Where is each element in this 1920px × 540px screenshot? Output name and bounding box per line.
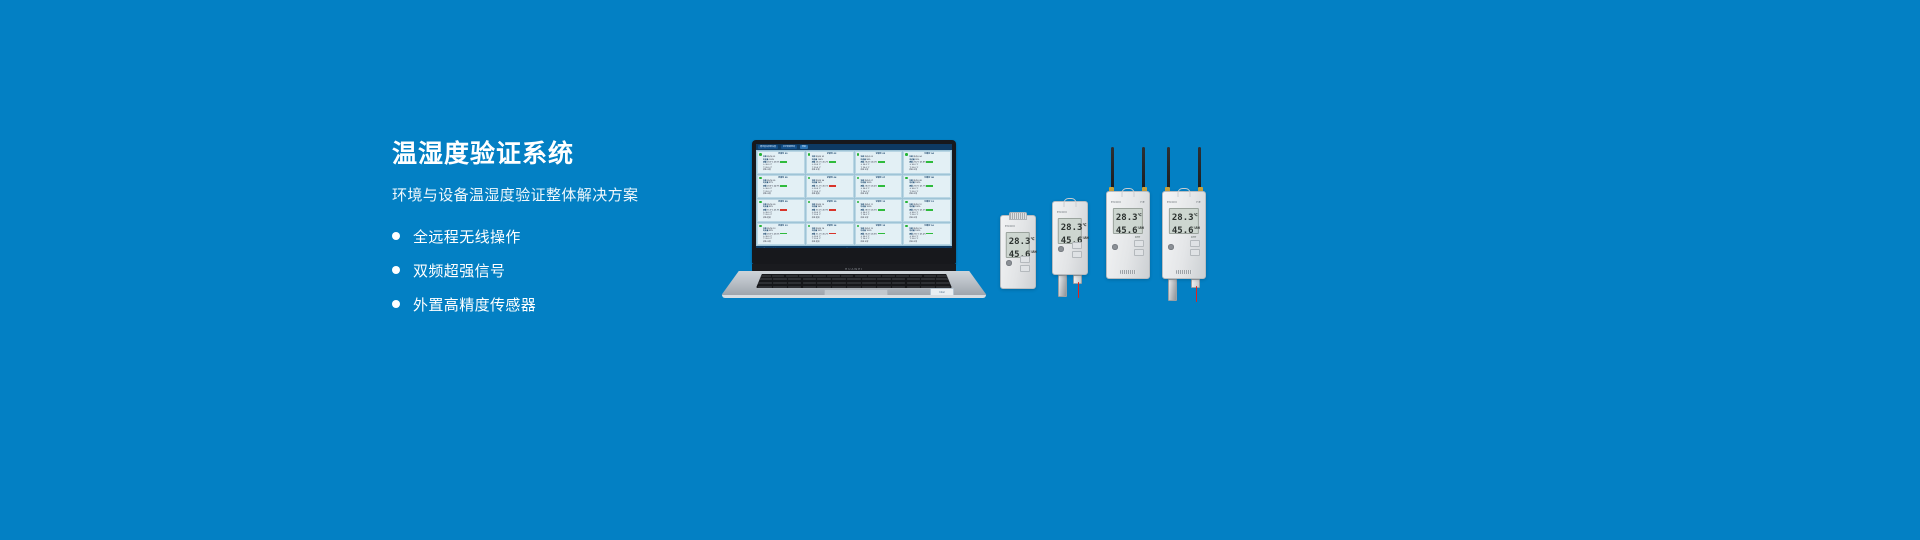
keyboard-key <box>758 286 772 288</box>
keyboard-key <box>907 278 921 280</box>
status-bar-icon <box>878 185 885 187</box>
keyboard-key <box>896 275 909 277</box>
laptop-brand-logo: HUAWEI <box>845 267 863 271</box>
keyboard-key <box>910 275 923 277</box>
device-lineup: ENON28.3℃45.6%RHRHTENON28.3℃45.6%RHRHTEN… <box>1000 185 1230 315</box>
keyboard-key <box>817 278 831 280</box>
device-model-label: HE <box>1196 200 1201 204</box>
feature-label: 外置高精度传感器 <box>413 294 536 315</box>
status-led-icon <box>759 177 762 180</box>
laptop-illustration: 通讯基站参数设置 历史数据查询 帮助 记录仪 01名称 测试点 01电池量 10… <box>720 140 988 300</box>
logger-state-row: 状态 正常 <box>861 193 901 196</box>
bullet-dot-icon <box>392 266 400 274</box>
keyboard-key <box>847 286 861 288</box>
device-keypad <box>1134 240 1144 256</box>
keyboard-key <box>817 286 831 288</box>
status-bar-icon <box>780 233 787 235</box>
logger-card[interactable]: 记录仪 02名称 测试点 02电池量 100%测量 28.1℃ 45.2% 上 … <box>806 151 854 174</box>
logger-state-row: 状态 超限 <box>812 241 852 244</box>
down-button[interactable] <box>1020 265 1030 272</box>
logger-state-row: 状态 正常 <box>909 169 949 172</box>
data-logger-device: ENON28.3℃45.6%RHRHT <box>1052 201 1088 275</box>
device-keypad <box>1020 256 1030 272</box>
keyboard-key <box>803 278 817 280</box>
power-button[interactable] <box>1058 246 1064 252</box>
up-button[interactable] <box>1190 240 1200 247</box>
lcd-display: 28.3℃45.6%RHRHT <box>1169 208 1199 234</box>
lcd-display: 28.3℃45.6%RHRHT <box>1006 232 1030 258</box>
status-led-icon <box>808 225 811 228</box>
keyboard-key <box>892 282 906 284</box>
temperature-probe-icon <box>1058 275 1067 297</box>
antenna-icon <box>1198 147 1201 189</box>
status-bar-icon <box>829 185 836 187</box>
keyboard-key <box>788 282 802 284</box>
keyboard-key <box>803 286 817 288</box>
speaker-grill-icon <box>1176 270 1192 274</box>
keyboard-key <box>921 278 935 280</box>
logger-card[interactable]: 记录仪 03名称 测试点 03电池量 98%测量 28.4℃ 46.0% 上 3… <box>855 151 903 174</box>
keyboard-key <box>832 286 846 288</box>
data-logger-device: ENON28.3℃45.6%RHRHT <box>1000 215 1036 289</box>
logger-state-row: 状态 正常 <box>812 169 852 172</box>
keyboard-key <box>788 278 802 280</box>
vent-grill-icon <box>1009 212 1027 220</box>
hanging-hook-icon <box>1178 188 1191 197</box>
humidity-reading: 45.6%RH <box>1116 223 1140 236</box>
logger-state-row: 状态 正常 <box>909 217 949 220</box>
keyboard-key <box>772 275 785 277</box>
logger-state-row: 状态 超限 <box>812 193 852 196</box>
logger-card-grid: 记录仪 01名称 测试点 01电池量 100%测量 28.3℃ 45.6% 上 … <box>756 150 952 246</box>
device-brand-label: ENON <box>1111 200 1121 204</box>
hero-banner: 温湿度验证系统 环境与设备温湿度验证整体解决方案 全远程无线操作 双频超强信号 … <box>0 0 1920 540</box>
keyboard-key <box>907 286 921 288</box>
power-button[interactable] <box>1168 244 1174 250</box>
sensor-wire-icon <box>1196 286 1198 302</box>
keyboard-key <box>877 278 891 280</box>
keyboard-key <box>847 282 861 284</box>
device-label-row: ENON <box>1001 224 1035 228</box>
keyboard-key <box>936 282 950 284</box>
down-button[interactable] <box>1072 251 1082 258</box>
keyboard-key <box>832 282 846 284</box>
sensor-wire-icon <box>1078 282 1080 298</box>
logger-state-row: 状态 正常 <box>763 169 803 172</box>
device-brand-label: ENON <box>1005 224 1015 228</box>
status-bar-icon <box>878 233 885 235</box>
temperature-probe-icon <box>1168 279 1177 301</box>
lcd-display: 28.3℃45.6%RHRHT <box>1113 208 1143 234</box>
logger-card[interactable]: 记录仪 13名称 测试点 13电池量 99%测量 28.3℃ 45.6% 上 3… <box>757 223 805 246</box>
status-bar-icon <box>878 161 885 163</box>
keyboard-key <box>773 286 787 288</box>
keyboard-key <box>882 275 895 277</box>
status-led-icon <box>759 201 762 204</box>
keyboard-key <box>788 286 802 288</box>
up-button[interactable] <box>1072 242 1082 249</box>
status-bar-icon <box>926 233 933 235</box>
data-logger-device: ENONHE28.3℃45.6%RHRHT <box>1106 191 1150 279</box>
logger-card[interactable]: 记录仪 05名称 测试点 05电池量 97%测量 28.6℃ 44.9% 上 3… <box>757 175 805 198</box>
tab-station-settings[interactable]: 通讯基站参数设置 <box>758 145 778 149</box>
device-keypad <box>1190 240 1200 256</box>
keyboard-key <box>773 282 787 284</box>
logger-state-row: 状态 正常 <box>763 193 803 196</box>
speaker-grill-icon <box>1120 270 1136 274</box>
keyboard-key <box>799 275 812 277</box>
status-led-icon <box>759 225 762 228</box>
keyboard-key <box>847 278 861 280</box>
device-body: ENONHE28.3℃45.6%RHRHT <box>1162 191 1206 279</box>
logger-state-row: 状态 正常 <box>861 217 901 220</box>
logger-card[interactable]: 记录仪 15名称 测试点 15电池量 100%测量 28.4℃ 45.8% 上 … <box>855 223 903 246</box>
power-button[interactable] <box>1006 260 1012 266</box>
device-brand-label: ENON <box>1167 200 1177 204</box>
logger-card[interactable]: 记录仪 14名称 测试点 14电池量 93%测量 31.1℃ 45.2% 上 3… <box>806 223 854 246</box>
logger-card[interactable]: 记录仪 01名称 测试点 01电池量 100%测量 28.3℃ 45.6% 上 … <box>757 151 805 174</box>
keyboard-row <box>756 285 952 288</box>
keyboard-key <box>832 278 846 280</box>
up-button[interactable] <box>1134 240 1144 247</box>
logger-state-row: 状态 超限 <box>812 217 852 220</box>
laptop-front-edge <box>722 295 986 298</box>
feature-label: 全远程无线操作 <box>413 226 521 247</box>
device-body: ENON28.3℃45.6%RHRHT <box>1052 201 1088 275</box>
bullet-dot-icon <box>392 232 400 240</box>
keyboard-key <box>907 282 921 284</box>
status-led-icon <box>808 177 811 180</box>
status-led-icon <box>857 225 860 228</box>
status-led-icon <box>905 225 908 228</box>
status-bar-icon <box>829 209 836 211</box>
status-led-icon <box>808 153 811 156</box>
keyboard-key <box>862 278 876 280</box>
logger-state-row: 状态 正常 <box>861 241 901 244</box>
up-button[interactable] <box>1020 256 1030 263</box>
keyboard-key <box>841 275 854 277</box>
logger-card[interactable]: 记录仪 08名称 测试点 08电池量 100%测量 28.3℃ 45.7% 上 … <box>903 175 951 198</box>
status-led-icon <box>857 177 860 180</box>
keyboard-key <box>758 282 772 284</box>
status-led-icon <box>905 201 908 204</box>
laptop-keyboard <box>756 274 952 288</box>
logger-card[interactable]: 记录仪 12名称 测试点 12电池量 100%测量 28.2℃ 45.0% 上 … <box>903 199 951 222</box>
antenna-icon <box>1111 147 1114 189</box>
status-led-icon <box>808 201 811 204</box>
logger-state-row: 状态 正常 <box>763 241 803 244</box>
logger-card[interactable]: 记录仪 16名称 测试点 16电池量 100%测量 28.1℃ 45.4% 上 … <box>903 223 951 246</box>
temperature-reading: 28.3℃ <box>1116 210 1140 223</box>
status-bar-icon <box>780 209 787 211</box>
keyboard-key <box>817 282 831 284</box>
device-body: ENONHE28.3℃45.6%RHRHT <box>1106 191 1150 279</box>
status-bar-icon <box>926 161 933 163</box>
tab-help[interactable]: 帮助 <box>800 145 808 149</box>
status-bar-icon <box>829 161 836 163</box>
humidity-reading: 45.6%RH <box>1172 223 1196 236</box>
keyboard-key <box>868 275 881 277</box>
feature-label: 双频超强信号 <box>413 260 505 281</box>
bullet-dot-icon <box>392 300 400 308</box>
device-label-row: ENONHE <box>1163 200 1205 204</box>
logger-card[interactable]: 记录仪 06名称 测试点 06电池量 96%测量 31.2℃ 45.1% 上 3… <box>806 175 854 198</box>
device-keypad <box>1072 242 1082 258</box>
logger-state-row: 状态 正常 <box>909 241 949 244</box>
hanging-hook-icon <box>1064 198 1077 207</box>
device-label-row: ENON <box>1053 210 1087 214</box>
keyboard-key <box>924 275 937 277</box>
laptop-screen: 通讯基站参数设置 历史数据查询 帮助 记录仪 01名称 测试点 01电池量 10… <box>756 144 952 248</box>
keyboard-key <box>936 278 950 280</box>
logger-state-row: 状态 超限 <box>763 217 803 220</box>
logger-state-row: 状态 正常 <box>909 193 949 196</box>
status-led-icon <box>905 153 908 156</box>
app-toolbar: 更新 打印 设置 首页 上页 下页 末页 退出 <box>756 246 952 248</box>
status-bar-icon <box>829 233 836 235</box>
logger-card[interactable]: 记录仪 04名称 测试点 04电池量 99%测量 28.2℃ 45.8% 上 3… <box>903 151 951 174</box>
keyboard-key <box>813 275 826 277</box>
keyboard-key <box>877 282 891 284</box>
power-button[interactable] <box>1112 244 1118 250</box>
status-led-icon <box>905 177 908 180</box>
status-bar-icon <box>926 185 933 187</box>
lcd-display: 28.3℃45.6%RHRHT <box>1058 218 1082 244</box>
laptop-lid: 通讯基站参数设置 历史数据查询 帮助 记录仪 01名称 测试点 01电池量 10… <box>752 140 956 264</box>
device-body: ENON28.3℃45.6%RHRHT <box>1000 215 1036 289</box>
status-led-icon <box>759 153 762 156</box>
keyboard-key <box>758 278 772 280</box>
status-bar-icon <box>780 161 787 163</box>
temperature-reading: 28.3℃ <box>1061 220 1079 233</box>
status-bar-icon <box>878 209 885 211</box>
device-model-label: HE <box>1140 200 1145 204</box>
status-led-icon <box>857 153 860 156</box>
logger-card[interactable]: 记录仪 07名称 测试点 07电池量 100%测量 28.0℃ 45.4% 上 … <box>855 175 903 198</box>
logger-card[interactable]: 记录仪 10名称 测试点 10电池量 94%测量 31.0℃ 45.9% 上 3… <box>806 199 854 222</box>
tab-history-query[interactable]: 历史数据查询 <box>781 145 797 149</box>
down-button[interactable] <box>1190 249 1200 256</box>
keyboard-key <box>855 275 868 277</box>
keyboard-key <box>877 286 891 288</box>
keyboard-key <box>892 286 906 288</box>
logger-card[interactable]: 记录仪 09名称 测试点 09电池量 95%测量 31.5℃ 45.3% 上 3… <box>757 199 805 222</box>
logger-state-row: 状态 正常 <box>861 169 901 172</box>
keyboard-key <box>827 275 840 277</box>
keyboard-key <box>803 282 817 284</box>
hanging-hook-icon <box>1122 188 1135 197</box>
temperature-reading: 28.3℃ <box>1172 210 1196 223</box>
device-brand-label: ENON <box>1057 210 1067 214</box>
keyboard-key <box>786 275 799 277</box>
keyboard-key <box>892 278 906 280</box>
data-logger-device: ENONHE28.3℃45.6%RHRHT <box>1162 191 1206 279</box>
keyboard-key <box>773 278 787 280</box>
keyboard-key <box>862 282 876 284</box>
antenna-icon <box>1142 147 1145 189</box>
logger-card[interactable]: 记录仪 11名称 测试点 11电池量 100%测量 28.5℃ 45.5% 上 … <box>855 199 903 222</box>
status-led-icon <box>857 201 860 204</box>
status-bar-icon <box>926 209 933 211</box>
antenna-icon <box>1167 147 1170 189</box>
keyboard-key <box>921 282 935 284</box>
down-button[interactable] <box>1134 249 1144 256</box>
status-bar-icon <box>780 185 787 187</box>
temperature-reading: 28.3℃ <box>1009 234 1027 247</box>
keyboard-key <box>862 286 876 288</box>
device-label-row: ENONHE <box>1107 200 1149 204</box>
